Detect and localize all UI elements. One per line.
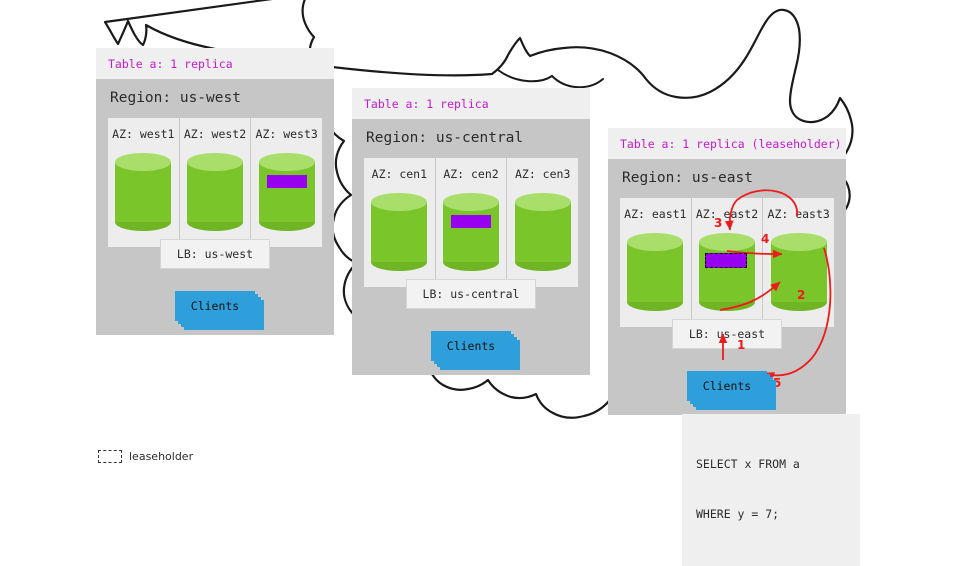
legend-label: leaseholder bbox=[129, 450, 193, 463]
arrow-label-3: 3 bbox=[714, 216, 722, 230]
replica-marker bbox=[451, 215, 491, 228]
clients-stack-us-central[interactable]: Clients bbox=[431, 331, 511, 361]
replica-marker bbox=[267, 175, 307, 188]
arrow-step-2 bbox=[720, 282, 780, 310]
arrow-label-2: 2 bbox=[797, 288, 805, 302]
clients-stack-us-east[interactable]: Clients bbox=[687, 371, 767, 401]
leaseholder-marker bbox=[705, 253, 747, 268]
diagram-canvas: Table a: 1 replica Region: us-west AZ: w… bbox=[0, 0, 960, 540]
arrow-label-4: 4 bbox=[761, 232, 769, 246]
clients-stack-us-west[interactable]: Clients bbox=[175, 291, 255, 321]
arrow-label-1: 1 bbox=[737, 338, 745, 352]
leaseholder-swatch-icon bbox=[98, 450, 122, 463]
arrow-step-3 bbox=[730, 190, 797, 230]
arrow-step-5 bbox=[765, 248, 830, 375]
legend: leaseholder bbox=[98, 450, 193, 463]
clients-button[interactable]: Clients bbox=[687, 371, 767, 401]
clients-button[interactable]: Clients bbox=[175, 291, 255, 321]
clients-button[interactable]: Clients bbox=[431, 331, 511, 361]
